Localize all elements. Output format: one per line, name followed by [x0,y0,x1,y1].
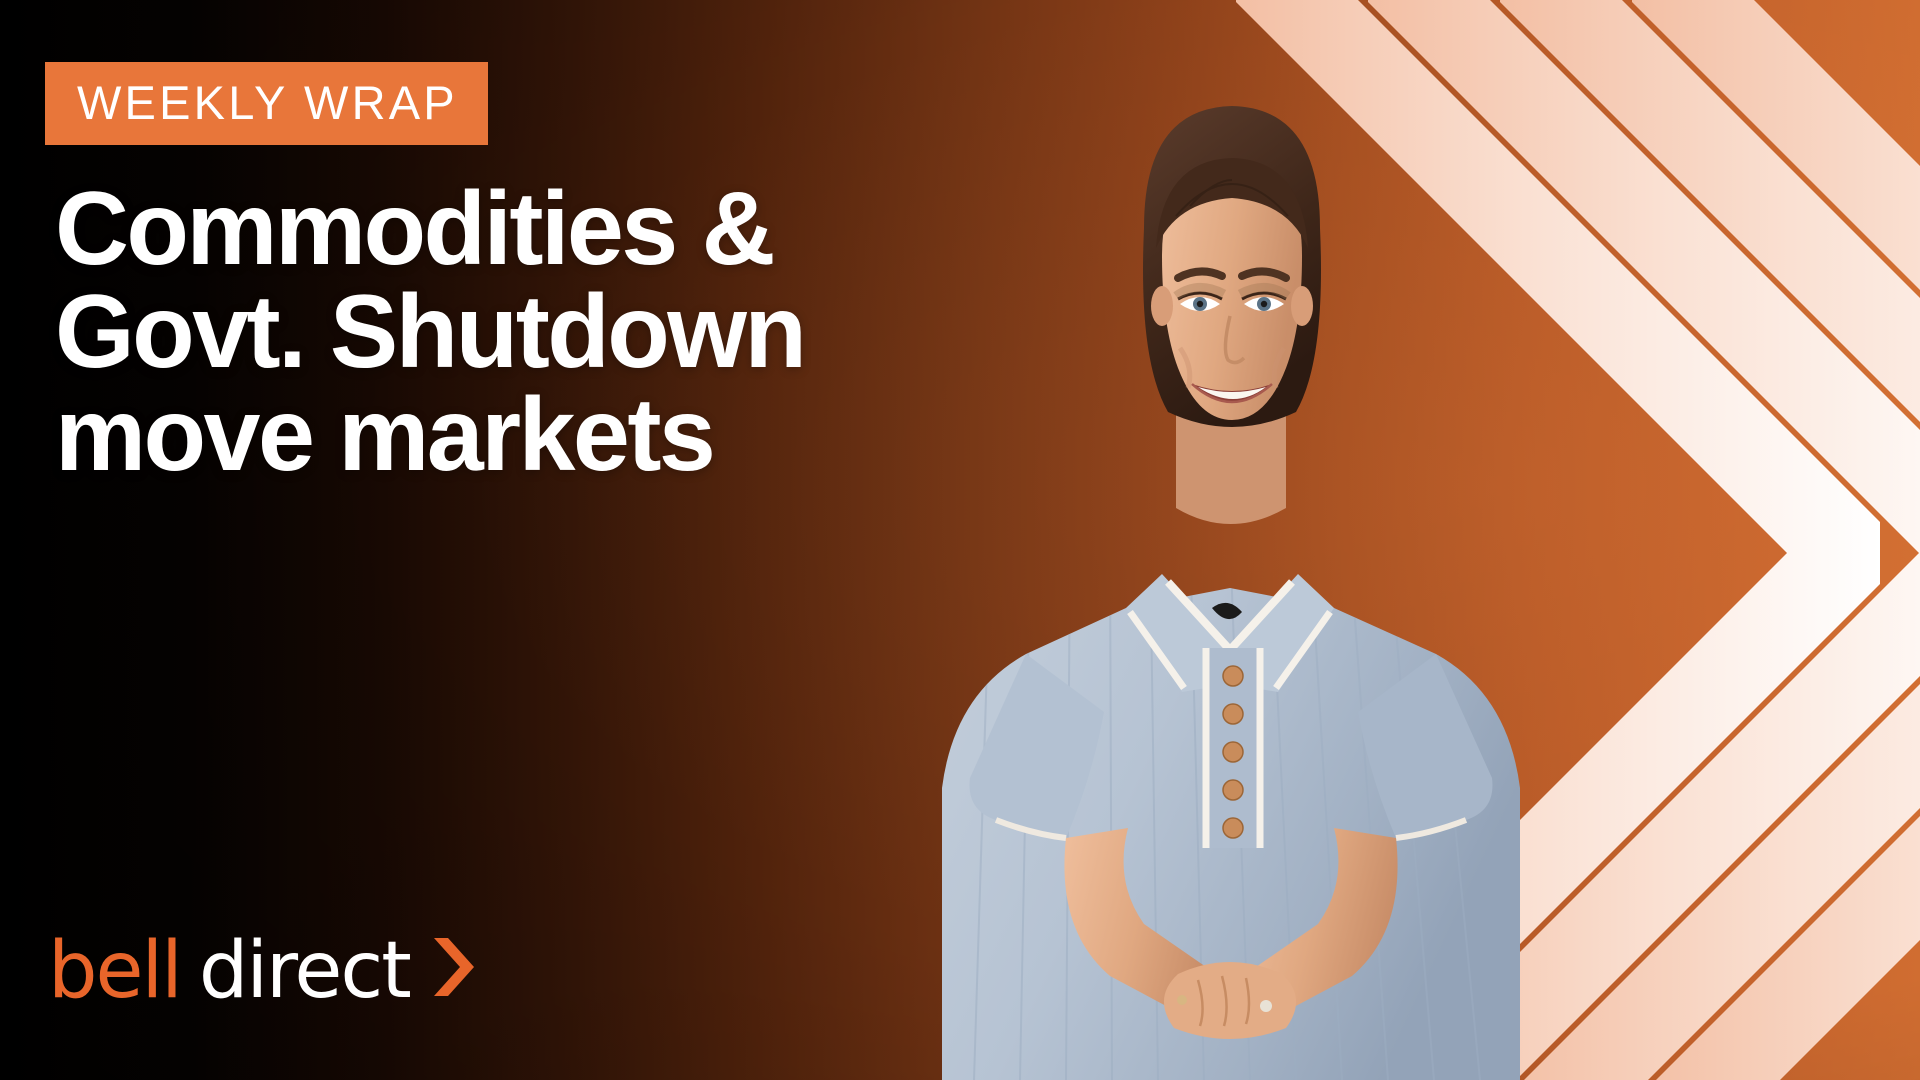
headline-line-3: move markets [55,384,892,487]
weekly-wrap-thumbnail: WEEKLY WRAP Commodities & Govt. Shutdown… [0,0,1920,1080]
presenter-figure [930,88,1590,1080]
weekly-wrap-badge: WEEKLY WRAP [45,62,488,145]
headline-line-2: Govt. Shutdown [55,281,892,384]
chevron-right-icon [428,936,478,998]
page-title: Commodities & Govt. Shutdown move market… [55,178,905,487]
logo-word-bell: bell [48,932,181,1010]
headline-line-1: Commodities & [55,178,892,281]
logo-word-direct: direct [199,932,410,1010]
badge-label: WEEKLY WRAP [77,76,458,129]
belldirect-logo[interactable]: bell direct [48,932,478,1010]
